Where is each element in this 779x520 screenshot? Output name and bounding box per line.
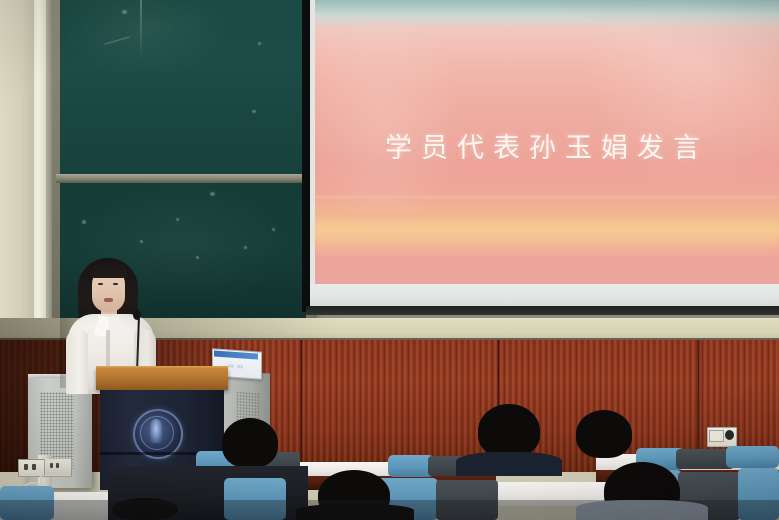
left-wall-panel <box>0 0 34 350</box>
lecture-hall-photo: 学员代表孙玉娟发言 ▭ ▭ <box>0 0 779 520</box>
audience-shoulders-front-center <box>456 452 562 476</box>
chalk-mark <box>122 10 127 14</box>
chalk-mark <box>140 240 143 243</box>
light-switch[interactable] <box>709 430 724 442</box>
seat-back-far-right[interactable] <box>726 446 779 468</box>
audience-head-back-left <box>222 418 278 468</box>
socket-hole-icon <box>56 463 59 468</box>
chalk-mark <box>82 220 86 224</box>
wood-panel-seam <box>300 340 303 472</box>
socket-hole-icon <box>32 464 36 470</box>
speaker-mouth <box>104 298 113 302</box>
chalk-mark <box>252 110 256 113</box>
socket-knob-icon <box>725 430 734 440</box>
left-wall-edge <box>34 0 46 352</box>
chalk-mark <box>258 42 261 45</box>
foreground-floor-shadow <box>0 500 779 520</box>
projection-warm-glow-band <box>315 218 779 258</box>
chalk-mark <box>176 218 179 221</box>
socket-hole-icon <box>24 464 28 470</box>
chalkboard-middle-rail <box>56 174 310 183</box>
socket-hole-icon <box>50 463 53 468</box>
audience-head-back-right <box>576 410 632 458</box>
university-crest-core <box>150 419 162 443</box>
chalk-mark <box>272 228 275 231</box>
speaker-eye-right <box>113 283 118 285</box>
chalkboard-upper-panel <box>60 0 306 174</box>
speaker-eye-left <box>98 283 103 285</box>
lectern-top <box>96 368 228 390</box>
projection-horizon-line <box>315 196 779 198</box>
projection-screen-bottom-bar <box>306 306 779 315</box>
speaker-fringe <box>90 263 127 278</box>
audience-head-front-center <box>478 404 540 458</box>
chalk-mark <box>196 256 199 259</box>
chalk-mark <box>210 192 215 196</box>
chalk-mark <box>244 246 247 249</box>
microphone-icon <box>133 310 141 320</box>
chalk-streak <box>140 0 142 60</box>
slide-title-text: 学员代表孙玉娟发言 <box>315 126 779 165</box>
speaker-arm-left <box>66 330 88 394</box>
